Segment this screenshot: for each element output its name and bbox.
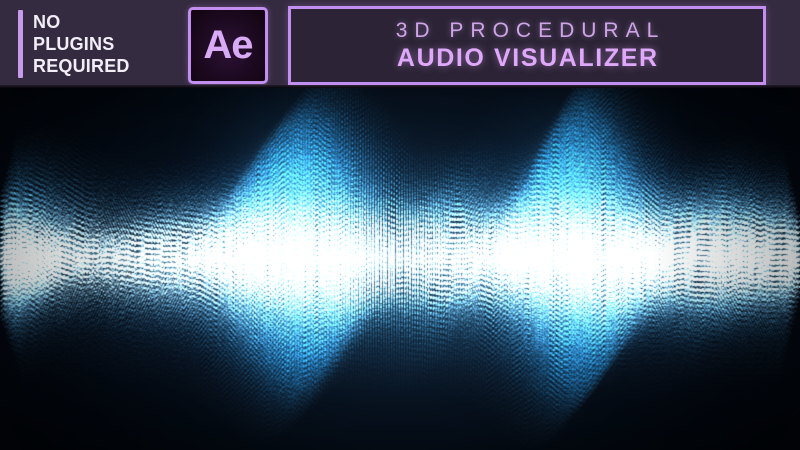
after-effects-logo-icon: Ae	[188, 7, 268, 84]
screenshot-root: NO PLUGINS REQUIRED Ae 3D PROCEDURAL AUD…	[0, 0, 800, 450]
audio-waveform-visualizer	[0, 88, 800, 450]
title-line-subtitle: 3D PROCEDURAL	[389, 18, 666, 44]
no-plugins-line-1: NO	[33, 11, 130, 33]
header-band: NO PLUGINS REQUIRED Ae 3D PROCEDURAL AUD…	[0, 0, 800, 88]
no-plugins-line-3: REQUIRED	[33, 55, 130, 77]
after-effects-logo-label: Ae	[203, 25, 252, 65]
waveform-canvas	[0, 88, 800, 450]
no-plugins-line-2: PLUGINS	[33, 33, 130, 55]
no-plugins-lines: NO PLUGINS REQUIRED	[33, 10, 130, 78]
title-plate: 3D PROCEDURAL AUDIO VISUALIZER	[288, 6, 766, 85]
title-line-main: AUDIO VISUALIZER	[395, 44, 658, 73]
no-plugins-badge: NO PLUGINS REQUIRED	[18, 10, 130, 78]
accent-bar-icon	[18, 10, 23, 78]
